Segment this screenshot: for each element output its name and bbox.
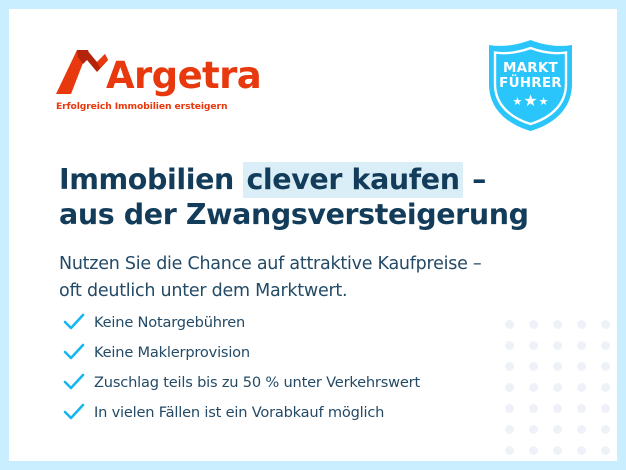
check-icon (61, 309, 87, 335)
logo-tagline: Erfolgreich Immobilien ersteigern (56, 101, 246, 112)
dot (601, 320, 610, 329)
list-item: Keine Notargebühren (61, 307, 511, 337)
list-item-label: Zuschlag teils bis zu 50 % unter Verkehr… (94, 374, 420, 391)
dot (553, 446, 562, 455)
headline-highlight: clever kaufen (243, 162, 462, 198)
subheadline-line-2: oft deutlich unter dem Marktwert. (59, 281, 347, 301)
logo-row: Argetra (56, 45, 246, 97)
argetra-roof-arrow-icon (56, 47, 108, 97)
dot (529, 404, 538, 413)
benefits-checklist: Keine Notargebühren Keine Maklerprovisio… (61, 307, 511, 427)
list-item: In vielen Fällen ist ein Vorabkauf mögli… (61, 397, 511, 427)
check-icon (61, 369, 87, 395)
banner-canvas: Argetra Erfolgreich Immobilien ersteiger… (9, 9, 617, 461)
dot (577, 425, 586, 434)
dot (601, 404, 610, 413)
headline-text-before: Immobilien (59, 163, 243, 196)
dot (577, 446, 586, 455)
check-icon (61, 399, 87, 425)
list-item-label: In vielen Fällen ist ein Vorabkauf mögli… (94, 404, 384, 421)
dot (529, 425, 538, 434)
dot (601, 362, 610, 371)
list-item: Zuschlag teils bis zu 50 % unter Verkehr… (61, 367, 511, 397)
dot (601, 446, 610, 455)
list-item: Keine Maklerprovision (61, 337, 511, 367)
market-leader-badge: MARKT FÜHRER ★ ★ ★ (486, 39, 575, 132)
subheadline: Nutzen Sie die Chance auf attraktive Kau… (59, 251, 559, 305)
dot (505, 446, 514, 455)
shield-icon (486, 39, 575, 132)
dot (601, 341, 610, 350)
dot (577, 404, 586, 413)
promo-banner: Argetra Erfolgreich Immobilien ersteiger… (0, 0, 626, 470)
subheadline-line-1: Nutzen Sie die Chance auf attraktive Kau… (59, 254, 481, 274)
dot (529, 383, 538, 392)
headline-text-after: – (463, 163, 486, 196)
argetra-logo[interactable]: Argetra Erfolgreich Immobilien ersteiger… (56, 45, 246, 117)
dot (553, 425, 562, 434)
dot (529, 320, 538, 329)
dot (553, 404, 562, 413)
dot (577, 320, 586, 329)
dot (577, 341, 586, 350)
dot (553, 383, 562, 392)
dot (577, 362, 586, 371)
logo-wordmark: Argetra (106, 56, 261, 96)
check-icon (61, 339, 87, 365)
dot (553, 320, 562, 329)
dot (529, 341, 538, 350)
dot (553, 362, 562, 371)
dot (601, 383, 610, 392)
dot (529, 446, 538, 455)
list-item-label: Keine Maklerprovision (94, 344, 250, 361)
dot (553, 341, 562, 350)
headline-line-2: aus der Zwangsversteigerung (59, 198, 529, 231)
list-item-label: Keine Notargebühren (94, 314, 245, 331)
dot (577, 383, 586, 392)
page-title: Immobilien clever kaufen – aus der Zwang… (59, 162, 539, 232)
dot (529, 362, 538, 371)
dot (601, 425, 610, 434)
